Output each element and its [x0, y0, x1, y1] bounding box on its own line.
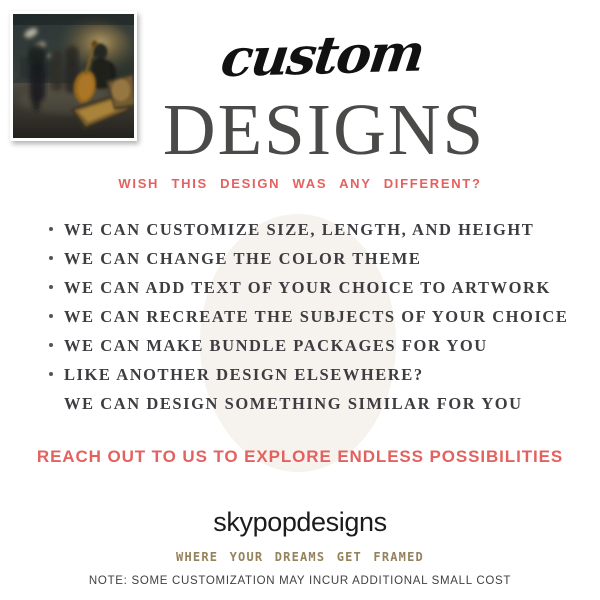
benefits-list: WE CAN CUSTOMIZE SIZE, LENGTH, AND HEIGH… [48, 215, 600, 418]
list-item-label: WE CAN RECREATE THE SUBJECTS OF YOUR CHO… [64, 307, 568, 326]
bullet-dot-icon [49, 285, 53, 289]
list-item-label: WE CAN DESIGN SOMETHING SIMILAR FOR YOU [64, 394, 523, 413]
cta-text: REACH OUT TO US TO EXPLORE ENDLESS POSSI… [0, 446, 600, 468]
list-item-label: WE CAN CHANGE THE COLOR THEME [64, 249, 421, 268]
brand-tagline: WHERE YOUR DREAMS GET FRAMED [0, 549, 600, 565]
list-item: WE CAN CHANGE THE COLOR THEME [48, 244, 600, 273]
subtitle-question: WISH THIS DESIGN WAS ANY DIFFERENT? [0, 175, 600, 192]
list-item-label: WE CAN MAKE BUNDLE PACKAGES FOR YOU [64, 336, 488, 355]
list-item: WE CAN ADD TEXT OF YOUR CHOICE TO ARTWOR… [48, 273, 600, 302]
bullet-dot-icon [49, 314, 53, 318]
list-item: WE CAN CUSTOMIZE SIZE, LENGTH, AND HEIGH… [48, 215, 600, 244]
custom-designs-poster: custom DESIGNS WISH THIS DESIGN WAS ANY … [0, 0, 600, 600]
list-item-label: WE CAN ADD TEXT OF YOUR CHOICE TO ARTWOR… [64, 278, 551, 297]
list-item: WE CAN RECREATE THE SUBJECTS OF YOUR CHO… [48, 302, 600, 331]
footnote-note: NOTE: SOME CUSTOMIZATION MAY INCUR ADDIT… [0, 574, 600, 589]
bullet-dot-icon [49, 256, 53, 260]
list-item: WE CAN MAKE BUNDLE PACKAGES FOR YOU [48, 331, 600, 360]
bullet-dot-icon [49, 372, 53, 376]
bullet-dot-icon [49, 227, 53, 231]
list-item-label: WE CAN CUSTOMIZE SIZE, LENGTH, AND HEIGH… [64, 220, 534, 239]
brand-logo-text: skypopdesigns [0, 506, 600, 538]
list-item-continuation: WE CAN DESIGN SOMETHING SIMILAR FOR YOU [48, 389, 600, 418]
list-item-label: LIKE ANOTHER DESIGN ELSEWHERE? [64, 365, 424, 384]
artwork-painting-icon [10, 11, 137, 141]
list-item: LIKE ANOTHER DESIGN ELSEWHERE? [48, 360, 600, 389]
artwork-thumbnail[interactable] [10, 11, 137, 141]
bullet-dot-icon [49, 343, 53, 347]
